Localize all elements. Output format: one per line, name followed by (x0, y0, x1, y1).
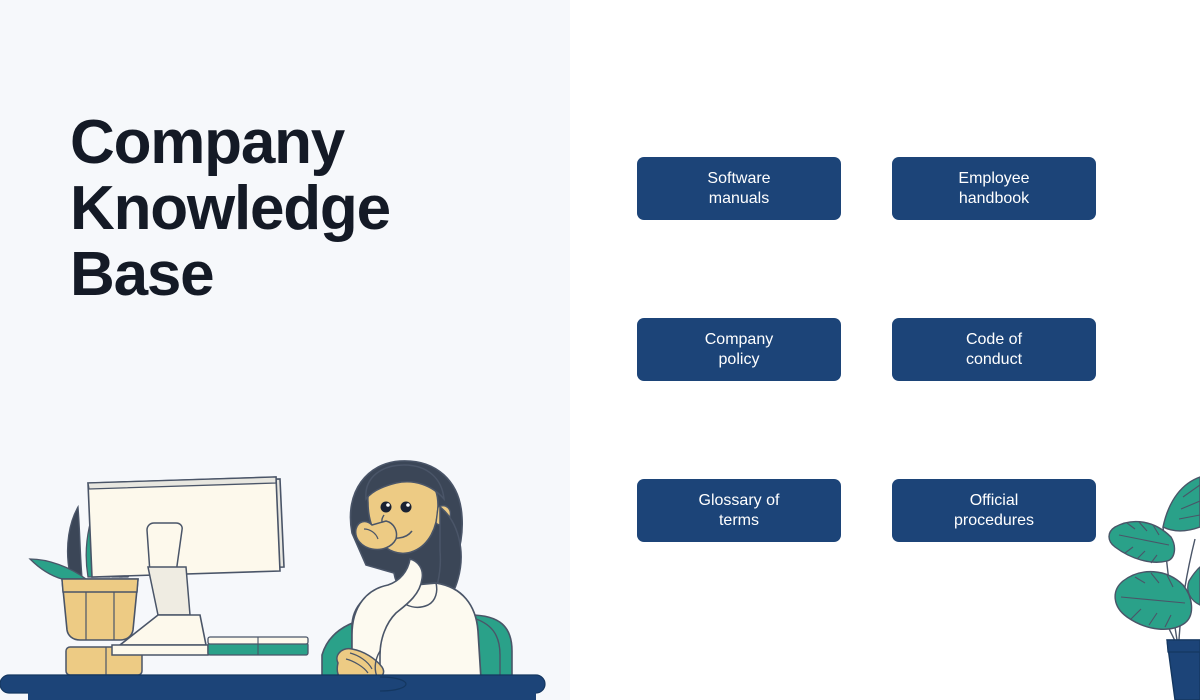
page-title: Company Knowledge Base (70, 110, 500, 308)
monstera-leaf-lower (1115, 572, 1191, 630)
topic-button-official-procedures[interactable]: Official procedures (892, 479, 1096, 542)
woman-at-desk-illustration (0, 455, 570, 700)
keyboard-illustration (208, 637, 308, 655)
slide-canvas: Company Knowledge Base (0, 0, 1200, 700)
desk-illustration (0, 675, 545, 700)
topic-button-company-policy[interactable]: Company policy (637, 318, 841, 381)
topic-button-employee-handbook[interactable]: Employee handbook (892, 157, 1096, 220)
topic-button-software-manuals[interactable]: Software manuals (637, 157, 841, 220)
topic-button-grid: Software manuals Employee handbook Compa… (637, 157, 1097, 542)
monstera-pot (1167, 640, 1200, 700)
topic-button-glossary-of-terms[interactable]: Glossary of terms (637, 479, 841, 542)
woman-illustration (337, 461, 482, 695)
right-panel: Software manuals Employee handbook Compa… (570, 0, 1200, 700)
monstera-leaf-top (1163, 477, 1200, 531)
left-panel: Company Knowledge Base (0, 0, 570, 700)
topic-button-code-of-conduct[interactable]: Code of conduct (892, 318, 1096, 381)
monstera-plant-illustration (1105, 475, 1200, 700)
